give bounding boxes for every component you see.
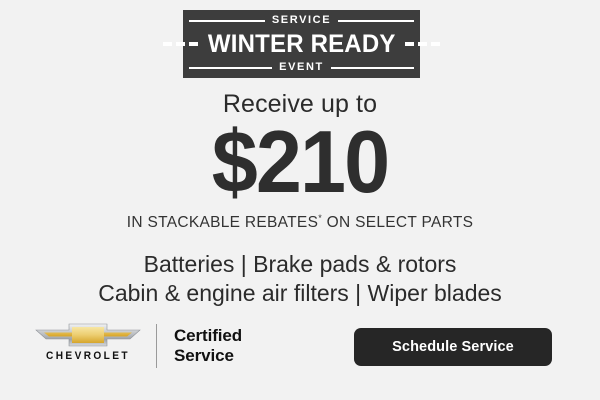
badge-top-row: SERVICE [189,15,414,26]
chevrolet-bowtie-icon [32,322,144,348]
chevrolet-wordmark: CHEVROLET [36,351,139,362]
product-list: Batteries | Brake pads & rotors Cabin & … [0,250,600,308]
badge-bottom-row: EVENT [189,62,414,73]
offer-terms-text: IN STACKABLE REBATES [127,214,318,231]
product-line-2: Cabin & engine air filters | Wiper blade… [0,279,600,308]
badge-title-row: WINTER READY [189,30,414,59]
footer-divider [156,324,157,368]
badge-rule-left-2 [189,67,272,69]
badge-rule-left [189,20,265,22]
product-line-1: Batteries | Brake pads & rotors [0,250,600,279]
schedule-service-button[interactable]: Schedule Service [354,328,552,366]
chevrolet-brand-lockup: CHEVROLET [32,322,144,362]
event-badge: SERVICE WINTER READY EVENT [183,10,420,78]
badge-title: WINTER READY [208,32,396,57]
badge-event-label: EVENT [272,62,331,73]
offer-terms: IN STACKABLE REBATES* ON SELECT PARTS [0,215,600,231]
badge-dashes-left [163,42,198,46]
certified-line-1: Certified [174,326,242,346]
badge-rule-right-2 [331,67,414,69]
badge-service-label: SERVICE [265,15,338,26]
certified-line-2: Service [174,346,242,366]
badge-rule-right [338,20,414,22]
offer-amount: $210 [18,118,582,206]
badge-dashes-right [405,42,440,46]
certified-service-label: Certified Service [174,326,242,366]
promo-banner: SERVICE WINTER READY EVENT Receive up to… [0,0,600,400]
offer-terms-tail: ON SELECT PARTS [322,214,473,231]
